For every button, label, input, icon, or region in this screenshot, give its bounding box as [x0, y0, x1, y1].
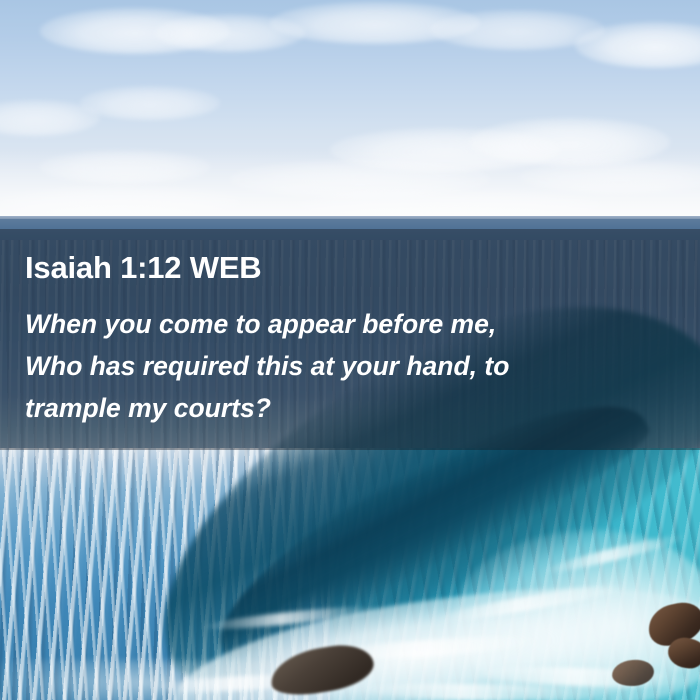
verse-reference-title: Isaiah 1:12 WEB — [25, 251, 261, 285]
verse-line-2: Who has required this at your hand, to — [25, 345, 690, 387]
verse-line-1: When you come to appear before me, — [25, 303, 690, 345]
verse-text: When you come to appear before me, Who h… — [25, 303, 690, 429]
sky-haze — [0, 150, 700, 222]
cloud-5 — [575, 22, 700, 68]
sky-region — [0, 0, 700, 222]
cloud-6 — [80, 86, 220, 120]
verse-image-card: Isaiah 1:12 WEB When you come to appear … — [0, 0, 700, 700]
verse-line-3: trample my courts? — [25, 387, 690, 429]
